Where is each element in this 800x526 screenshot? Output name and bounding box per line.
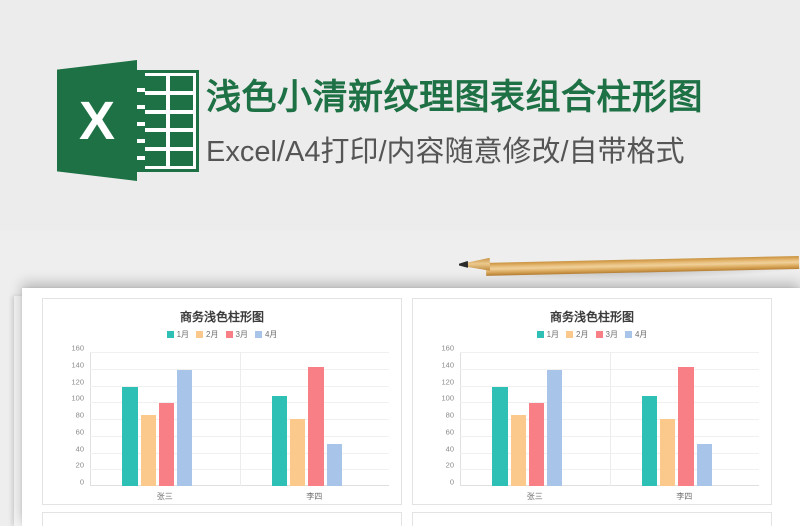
legend-item[interactable]: 2月 [566, 329, 588, 340]
y-axis-tick: 80 [446, 411, 454, 420]
y-axis-tick: 60 [446, 427, 454, 436]
y-axis-tick: 40 [76, 444, 84, 453]
legend-swatch [167, 331, 174, 338]
legend-item[interactable]: 4月 [625, 329, 647, 340]
bar[interactable] [327, 444, 342, 486]
plot-area [460, 352, 759, 486]
y-axis-tick: 20 [76, 461, 84, 470]
y-axis-tick: 40 [446, 444, 454, 453]
legend-item[interactable]: 3月 [596, 329, 618, 340]
legend-swatch [625, 331, 632, 338]
chart-card-left-next[interactable] [42, 512, 402, 526]
bar[interactable] [511, 415, 526, 486]
bar[interactable] [290, 419, 305, 486]
legend-label: 2月 [576, 329, 588, 340]
bar[interactable] [492, 387, 507, 486]
y-axis-tick: 120 [71, 377, 84, 386]
y-axis-tick: 100 [71, 394, 84, 403]
bar[interactable] [308, 367, 323, 486]
y-axis-tick: 140 [441, 360, 454, 369]
chart-legend: 1月2月3月4月 [43, 329, 401, 340]
chart-title: 商务浅色柱形图 [43, 308, 401, 325]
x-axis-tick: 李四 [306, 491, 322, 502]
y-axis-tick: 60 [76, 427, 84, 436]
legend-swatch [226, 331, 233, 338]
legend-swatch [596, 331, 603, 338]
legend-swatch [566, 331, 573, 338]
bar[interactable] [642, 396, 657, 486]
bar[interactable] [697, 444, 712, 486]
legend-label: 3月 [606, 329, 618, 340]
bar[interactable] [272, 396, 287, 486]
y-axis-labels: 160140120100806040200 [413, 348, 458, 488]
legend-swatch [255, 331, 262, 338]
legend-label: 4月 [635, 329, 647, 340]
bar[interactable] [141, 415, 156, 486]
y-axis-labels: 160140120100806040200 [43, 348, 88, 488]
legend-item[interactable]: 3月 [226, 329, 248, 340]
x-axis-tick: 张三 [157, 491, 173, 502]
y-axis-tick: 20 [446, 461, 454, 470]
legend-label: 3月 [236, 329, 248, 340]
legend-label: 1月 [547, 329, 559, 340]
y-axis-tick: 160 [71, 344, 84, 353]
y-axis-tick: 0 [80, 478, 84, 487]
chart-card-right[interactable]: 商务浅色柱形图1月2月3月4月160140120100806040200张三李四 [412, 298, 772, 505]
legend-label: 2月 [206, 329, 218, 340]
legend-item[interactable]: 2月 [196, 329, 218, 340]
pencil-icon [451, 248, 799, 280]
legend-item[interactable]: 1月 [537, 329, 559, 340]
y-axis-tick: 140 [71, 360, 84, 369]
bar[interactable] [159, 403, 174, 486]
legend-label: 1月 [177, 329, 189, 340]
paper-sheet: 商务浅色柱形图1月2月3月4月160140120100806040200张三李四… [22, 288, 800, 526]
excel-sheet-grid [143, 76, 193, 166]
plot-area [90, 352, 389, 486]
y-axis-tick: 0 [450, 478, 454, 487]
page-title: 浅色小清新纹理图表组合柱形图 [206, 69, 703, 120]
y-axis-tick: 160 [441, 344, 454, 353]
legend-label: 4月 [265, 329, 277, 340]
bar[interactable] [122, 387, 137, 486]
chart-card-left[interactable]: 商务浅色柱形图1月2月3月4月160140120100806040200张三李四 [42, 298, 402, 505]
bar[interactable] [678, 367, 693, 486]
legend-item[interactable]: 1月 [167, 329, 189, 340]
legend-item[interactable]: 4月 [255, 329, 277, 340]
bar[interactable] [547, 370, 562, 486]
y-axis-tick: 120 [441, 377, 454, 386]
legend-swatch [196, 331, 203, 338]
y-axis-tick: 100 [441, 394, 454, 403]
chart-card-right-next[interactable] [412, 512, 772, 526]
x-axis-labels: 张三李四 [460, 491, 759, 505]
legend-swatch [537, 331, 544, 338]
x-axis-tick: 张三 [527, 491, 543, 502]
x-axis-labels: 张三李四 [90, 491, 389, 505]
y-axis-tick: 80 [76, 411, 84, 420]
excel-logo-letter: X [57, 60, 137, 181]
x-axis-tick: 李四 [676, 491, 692, 502]
bar[interactable] [660, 419, 675, 486]
bar[interactable] [529, 403, 544, 486]
pencil-lead [459, 261, 468, 268]
chart-title: 商务浅色柱形图 [413, 308, 771, 325]
header-banner: X 浅色小清新纹理图表组合柱形图 Excel/A4打印/内容随意修改/自带格式 [0, 0, 800, 230]
category-separator [610, 352, 611, 486]
bar[interactable] [177, 370, 192, 486]
excel-logo-icon: X [57, 58, 202, 183]
category-separator [240, 352, 241, 486]
page-subtitle: Excel/A4打印/内容随意修改/自带格式 [206, 128, 685, 170]
chart-legend: 1月2月3月4月 [413, 329, 771, 340]
